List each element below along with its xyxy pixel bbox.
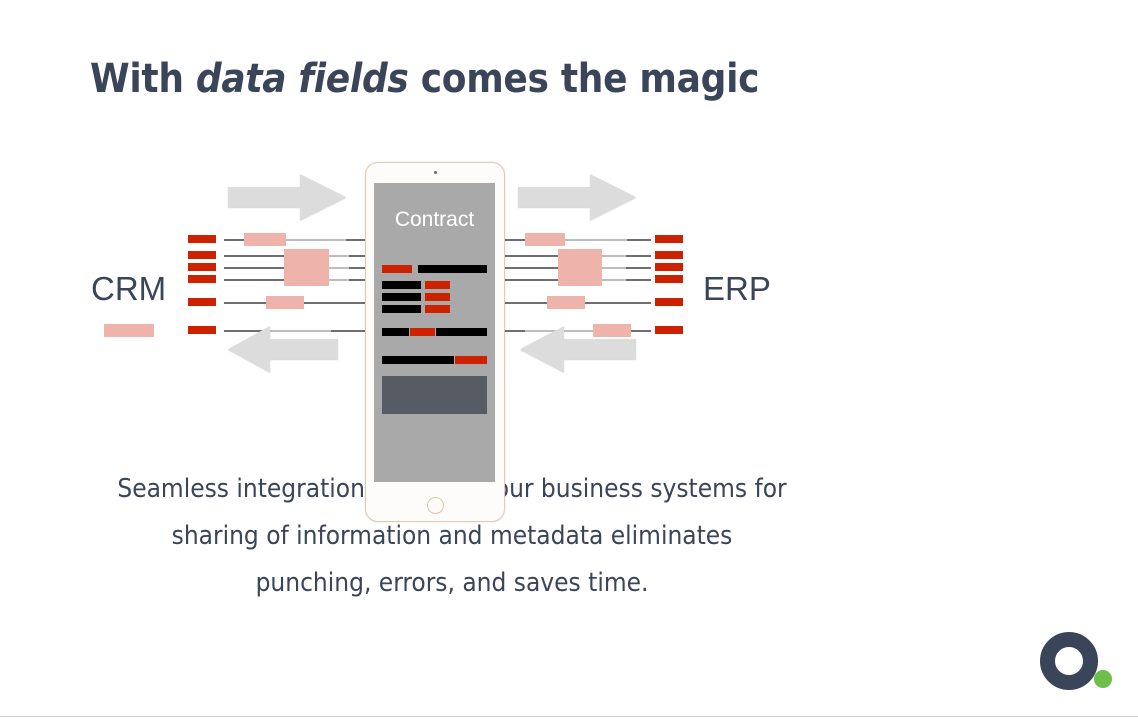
erp-label: ERP	[703, 270, 771, 308]
title-part-2: comes the magic	[409, 56, 760, 102]
doc-text-line	[382, 305, 421, 313]
connector-wire	[626, 279, 651, 281]
connector-highlight	[244, 233, 286, 246]
connector-highlight	[547, 296, 585, 309]
doc-field-highlight	[382, 265, 412, 273]
doc-field-highlight	[410, 328, 435, 336]
connector-wire	[224, 279, 284, 281]
page-title: With data fields comes the magic	[90, 56, 759, 102]
connector-wire	[503, 255, 558, 257]
connector-wire-soft	[602, 279, 626, 281]
connector-wire	[224, 267, 284, 269]
erp-field-stub	[655, 298, 683, 306]
logo-dot-icon	[1094, 670, 1112, 688]
crm-field-stub	[188, 263, 216, 271]
connector-lane-left	[224, 254, 369, 257]
erp-field-stub	[655, 275, 683, 283]
connector-wire	[304, 302, 369, 304]
doc-field-highlight	[425, 305, 450, 313]
connector-wire-soft	[329, 279, 349, 281]
doc-text-line	[436, 328, 487, 336]
tablet-device: Contract	[365, 162, 505, 522]
crm-field-stub	[188, 251, 216, 259]
connector-wire-soft	[329, 255, 349, 257]
arrow-contract-to-erp-icon	[518, 172, 638, 222]
connector-wire	[224, 255, 284, 257]
arrow-erp-to-contract-icon	[518, 324, 636, 374]
title-emphasis: data fields	[196, 56, 409, 102]
connector-lane-left	[224, 301, 369, 304]
document-row	[374, 293, 495, 301]
connector-wire	[503, 267, 558, 269]
connector-highlight	[525, 233, 565, 246]
doc-text-line	[418, 265, 487, 273]
title-part-1: With	[90, 56, 196, 102]
connector-wire-soft	[565, 239, 627, 241]
document-row	[374, 305, 495, 313]
connector-wire-soft	[602, 255, 626, 257]
doc-text-line	[382, 281, 421, 289]
crm-field-stub	[188, 235, 216, 243]
connector-wire	[626, 267, 651, 269]
doc-text-line	[382, 328, 409, 336]
connector-wire	[503, 302, 547, 304]
document-row	[374, 356, 495, 364]
connector-lane-left	[224, 238, 369, 241]
connector-highlight	[104, 324, 154, 337]
document-row	[374, 265, 495, 273]
connector-wire-soft	[329, 267, 349, 269]
document-row	[374, 281, 495, 289]
erp-field-stub	[655, 235, 683, 243]
crm-label: CRM	[91, 270, 166, 308]
signature-block	[382, 376, 487, 414]
connector-highlight	[284, 273, 329, 286]
slide-canvas: With data fields comes the magic CRM ERP	[0, 0, 1138, 719]
crm-field-stub	[188, 298, 216, 306]
connector-lane-right	[503, 301, 651, 304]
footer-divider	[0, 716, 1138, 717]
crm-field-stub	[188, 275, 216, 283]
connector-wire	[503, 279, 558, 281]
connector-wire	[626, 255, 651, 257]
crm-field-stub	[188, 326, 216, 334]
doc-text-line	[382, 356, 454, 364]
erp-field-stub	[655, 326, 683, 334]
doc-field-highlight	[425, 281, 450, 289]
connector-wire	[224, 302, 266, 304]
camera-icon	[434, 171, 437, 174]
connector-wire	[627, 239, 651, 241]
home-button-icon[interactable]	[427, 497, 444, 514]
connector-wire-soft	[286, 239, 346, 241]
connector-highlight	[558, 273, 602, 286]
connector-lane-right	[503, 278, 651, 281]
connector-lane-right	[503, 238, 651, 241]
connector-highlight	[266, 296, 304, 309]
connector-wire	[585, 302, 651, 304]
connector-lane-right	[503, 266, 651, 269]
body-line-3: punching, errors, and saves time.	[60, 560, 844, 607]
tablet-screen: Contract	[374, 183, 495, 482]
arrow-contract-to-crm-icon	[226, 324, 338, 374]
logo-ring-icon	[1040, 632, 1098, 690]
erp-field-stub	[655, 263, 683, 271]
document-title: Contract	[374, 208, 495, 232]
connector-wire	[503, 239, 525, 241]
connector-wire-soft	[602, 267, 626, 269]
connector-lane-right	[503, 254, 651, 257]
brand-logo	[1040, 632, 1118, 692]
document-row	[374, 328, 495, 336]
integration-diagram: CRM ERP	[0, 150, 1138, 380]
connector-lane-left	[224, 266, 369, 269]
erp-field-stub	[655, 251, 683, 259]
connector-lane-left	[224, 278, 369, 281]
doc-field-highlight	[455, 356, 487, 364]
doc-field-highlight	[425, 293, 450, 301]
doc-text-line	[382, 293, 421, 301]
arrow-crm-to-contract-icon	[228, 172, 348, 222]
